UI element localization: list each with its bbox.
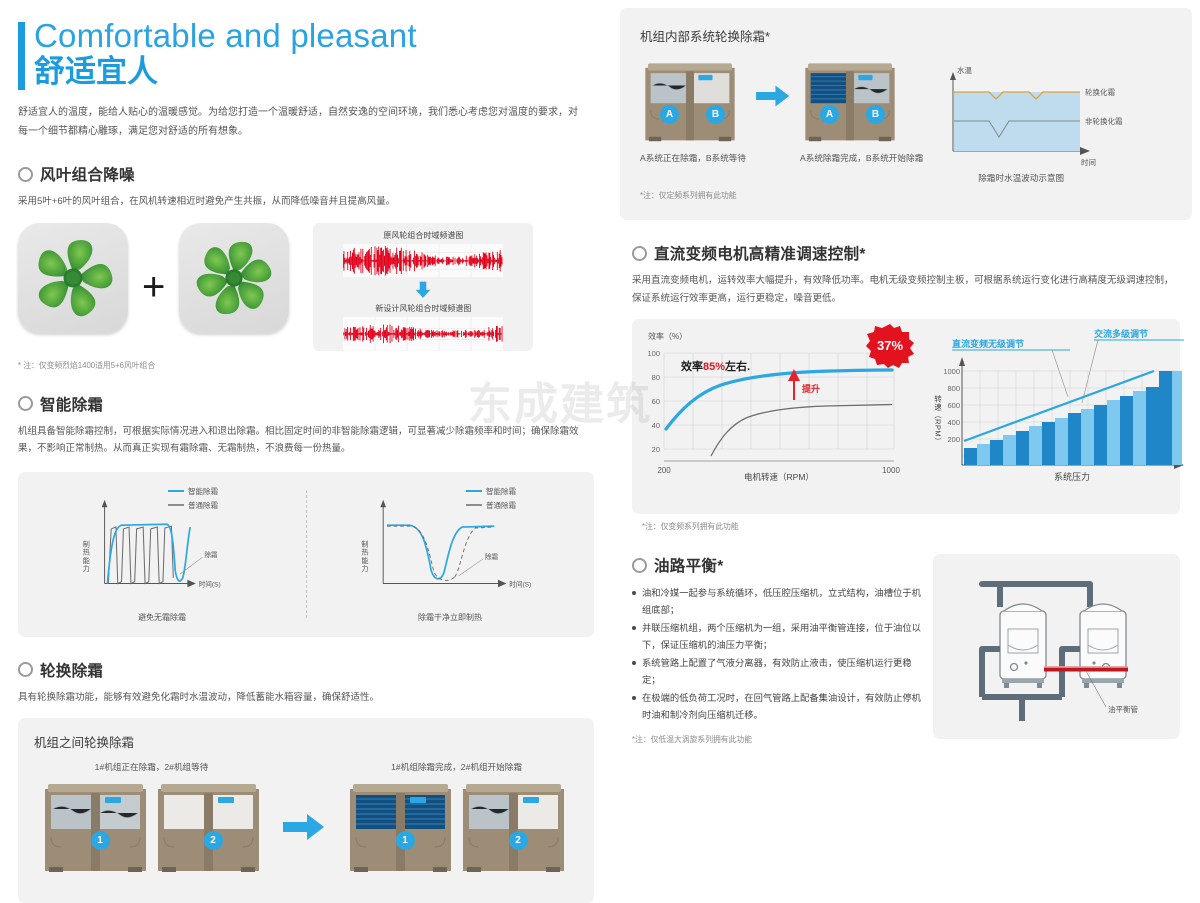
outdoor-unit-icon [800, 59, 900, 143]
annotation-defrost: 除霜 [485, 552, 499, 561]
unit-2-waiting: 2 [156, 779, 261, 879]
xtick-max: 1000 [882, 466, 900, 475]
section-header-oil-balance: 油路平衡* [632, 554, 923, 576]
defrost-left-svg: 制热能力 时间(S) 除霜 [18, 480, 306, 608]
label-dc-adjust: 直流变频无级调节 [952, 338, 1024, 349]
bar-xlabel: 系统压力 [1054, 471, 1090, 482]
ytick: 20 [652, 445, 660, 454]
unit-1-defrosting: 1 [43, 779, 148, 879]
oil-balance-bullets: 油和冷媒一起参与系统循环，低压腔压缩机，立式结构，油槽位于机组底部； 并联压缩机… [632, 585, 923, 723]
label-ac-adjust: 交流多级调节 [1094, 328, 1148, 339]
outdoor-unit-icon [348, 779, 453, 874]
eff-ylabel: 效率（%） [648, 331, 687, 341]
eff-value: 85% [703, 361, 725, 373]
oil-balance-note: *注：仅低温大涡旋系列拥有此功能 [632, 734, 923, 745]
ring-icon [632, 558, 647, 573]
page-title: Comfortable and pleasant 舒适宜人 [18, 18, 594, 90]
plus-sign: + [142, 232, 165, 342]
annotation-defrost: 除霜 [204, 550, 218, 559]
water-series-label-2: 非轮换化霜 [1085, 116, 1123, 126]
section-title-dc-motor: 直流变频电机高精准调速控制* [654, 242, 866, 264]
section-desc-rotating-defrost: 具有轮换除霜功能，能够有效避免化霜时水温波动，降低蓄能水箱容量，确保舒适性。 [18, 689, 594, 707]
right-column: 机组内部系统轮换除霜* [612, 0, 1200, 817]
fan-combination-row: + [18, 223, 594, 351]
x-axis-label: 时间(S) [509, 579, 531, 588]
system-badge-a: A [820, 105, 839, 124]
unit-badge: 2 [204, 831, 223, 850]
outdoor-unit-icon [43, 779, 148, 874]
list-item: 在极端的低负荷工况时，在回气管路上配备集油设计，有效防止停机时油和制冷剂向压缩机… [632, 690, 923, 723]
system-badge-b: B [866, 105, 885, 124]
unit-2-defrosting: 2 [461, 779, 566, 879]
internal-caption-left: A系统正在除霜，B系统等待 [640, 152, 746, 164]
bar-ylabel: 转速（RPM） [933, 394, 942, 446]
list-item: 并联压缩机组，两个压缩机为一组，采用油平衡管连接，位于油位以下，保证压缩机的油压… [632, 620, 923, 653]
ring-icon [18, 167, 33, 182]
water-temp-chart: 水温 轮换化霜 非轮换化霜 时间 除霜时水温波动示意图 [941, 59, 1141, 184]
fan-6-blade-icon [191, 235, 277, 321]
water-chart-xlabel: 时间 [1081, 157, 1096, 167]
fan-note: * 注：仅变频烈焰1400适用5+6风叶组合 [18, 360, 594, 371]
title-english: Comfortable and pleasant [34, 18, 594, 55]
fan-card-6blade [179, 223, 289, 333]
compressor-left [1000, 604, 1046, 688]
ytick: 600 [947, 401, 960, 410]
ytick: 100 [647, 349, 660, 358]
spectrum-panel: 原风轮组合时域频谱图 新设计风轮组合时域频谱图 [313, 223, 533, 351]
rotating-defrost-panel-title: 机组之间轮换除霜 [34, 732, 578, 751]
water-chart-caption: 除霜时水温波动示意图 [941, 172, 1101, 184]
internal-unit-pair-1: A B A系统正在除霜，B系统等待 [640, 59, 746, 164]
outdoor-unit-icon [156, 779, 261, 874]
internal-defrost-title: 机组内部系统轮换除霜* [640, 26, 1172, 45]
internal-rotating-defrost-panel: 机组内部系统轮换除霜* [620, 8, 1192, 220]
unit-badge: 1 [91, 831, 110, 850]
section-title-smart-defrost: 智能除霜 [40, 393, 103, 415]
chart-smart-defrost-right: 智能除霜 普通除霜 制热能力 时间(S) 除霜 除霜干净立即制热 [306, 472, 594, 637]
defrost-right-svg: 制热能力 时间(S) 除霜 [306, 480, 594, 608]
section-header-fan: 风叶组合降噪 [18, 163, 594, 185]
ring-icon [632, 246, 647, 261]
list-item: 系统管路上配置了气液分离器，有效防止液击，使压缩机运行更稳定； [632, 655, 923, 688]
rot-caption-right: 1#机组除霜完成，2#机组开始除霜 [339, 761, 574, 773]
section-desc-smart-defrost: 机组具备智能除霜控制，可根据实际情况进入和退出除霜。相比固定时间的非智能除霜逻辑… [18, 423, 594, 458]
spectrum-caption-bottom: 新设计风轮组合时域频谱图 [375, 303, 471, 314]
internal-caption-right: A系统除霜完成，B系统开始除霜 [800, 152, 923, 164]
ytick: 800 [947, 384, 960, 393]
xtick-min: 200 [657, 466, 671, 475]
y-axis-label: 制热能力 [82, 539, 90, 573]
water-temp-svg: 水温 轮换化霜 非轮换化霜 时间 [941, 59, 1141, 169]
badge-37-wrapper: 37% [864, 323, 916, 374]
left-column: Comfortable and pleasant 舒适宜人 舒适宜人的温度，能给… [0, 0, 612, 817]
badge-37-label: 37% [877, 338, 903, 353]
unit-badge: 2 [509, 831, 528, 850]
outdoor-unit-icon [640, 59, 740, 143]
ytick: 60 [652, 397, 660, 406]
section-title-rotating-defrost: 轮换除霜 [40, 659, 103, 681]
dc-motor-note: *注：仅变频系列拥有此功能 [642, 521, 739, 532]
section-header-rotating-defrost: 轮换除霜 [18, 659, 594, 681]
badge-37-icon: 37% [864, 323, 916, 369]
ring-icon [18, 662, 33, 677]
eff-pre: 效率 [681, 359, 703, 373]
water-chart-ylabel: 水温 [957, 65, 972, 75]
title-chinese: 舒适宜人 [34, 53, 594, 90]
fan-5-blade-icon [30, 235, 116, 321]
unit-badge: 1 [396, 831, 415, 850]
eff-xlabel: 电机转速（RPM） [744, 472, 814, 482]
smart-defrost-chart-panel: 智能除霜 普通除霜 制热能力 时间(S) 除霜 避免 [18, 472, 594, 637]
oil-pipe-label: 油平衡管 [1108, 704, 1138, 714]
speed-pressure-chart: 直流变频无级调节 交流多级调节 转速（RPM） [922, 323, 1200, 503]
ytick: 200 [947, 435, 960, 444]
section-desc-fan: 采用5叶+6叶的风叶组合，在风机转速相近时避免产生共振，从而降低噪音并且提高风量… [18, 193, 594, 211]
section-header-smart-defrost: 智能除霜 [18, 393, 594, 415]
outdoor-unit-icon [461, 779, 566, 874]
system-badge-b: B [706, 105, 725, 124]
improve-label: 提升 [802, 383, 820, 394]
efficiency-callout: 效率85%左右. [681, 359, 750, 373]
caption-left: 避免无霜除霜 [18, 612, 306, 623]
water-series-label-1: 轮换化霜 [1085, 87, 1115, 97]
dc-motor-chart-panel: 效率（%） 100 80 60 40 20 [632, 319, 1180, 514]
rotating-defrost-panel: 机组之间轮换除霜 1#机组正在除霜，2#机组等待 [18, 718, 594, 903]
ytick: 1000 [943, 367, 960, 376]
chart-smart-defrost-left: 智能除霜 普通除霜 制热能力 时间(S) 除霜 避免 [18, 472, 306, 637]
ytick: 400 [947, 418, 960, 427]
fan-card-5blade [18, 223, 128, 333]
compressor-right [1080, 604, 1126, 688]
rot-caption-left: 1#机组正在除霜，2#机组等待 [34, 761, 269, 773]
internal-unit-pair-2: A B A系统除霜完成，B系统开始除霜 [800, 59, 923, 164]
caption-right: 除霜干净立即制热 [306, 612, 594, 623]
lead-paragraph: 舒适宜人的温度，能给人贴心的温暖感觉。为给您打造一个温暖舒适，自然安逸的空间环境… [18, 104, 578, 141]
x-axis-label: 时间(S) [199, 579, 221, 588]
spectrum-chart-new [343, 317, 503, 351]
right-arrow-icon [756, 84, 790, 108]
ytick: 80 [652, 373, 660, 382]
spectrum-caption-top: 原风轮组合时域频谱图 [383, 230, 463, 241]
ring-icon [18, 396, 33, 411]
eff-post: 左右. [724, 359, 750, 373]
oil-balance-diagram-panel: 油平衡管 [933, 554, 1180, 739]
section-desc-dc-motor: 采用直流变频电机，运转效率大幅提升，有效降低功率。电机无级变频控制主板，可根据系… [632, 272, 1180, 307]
section-header-dc-motor: 直流变频电机高精准调速控制* [632, 242, 1180, 264]
list-item: 油和冷媒一起参与系统循环，低压腔压缩机，立式结构，油槽位于机组底部； [632, 585, 923, 618]
section-title-fan: 风叶组合降噪 [40, 163, 135, 185]
internal-defrost-note: *注：仅定频系列拥有此功能 [640, 190, 1172, 201]
section-title-oil-balance: 油路平衡* [654, 554, 724, 576]
down-arrow-icon [412, 280, 434, 300]
system-badge-a: A [660, 105, 679, 124]
bars [964, 371, 1182, 465]
right-arrow-icon [283, 813, 325, 841]
spectrum-chart-original [343, 244, 503, 278]
page-root: Comfortable and pleasant 舒适宜人 舒适宜人的温度，能给… [0, 0, 1200, 817]
ytick: 40 [652, 421, 660, 430]
y-axis-label: 制热能力 [361, 539, 369, 573]
unit-1-defrost-done: 1 [348, 779, 453, 879]
oil-balance-diagram: 油平衡管 [938, 559, 1183, 734]
